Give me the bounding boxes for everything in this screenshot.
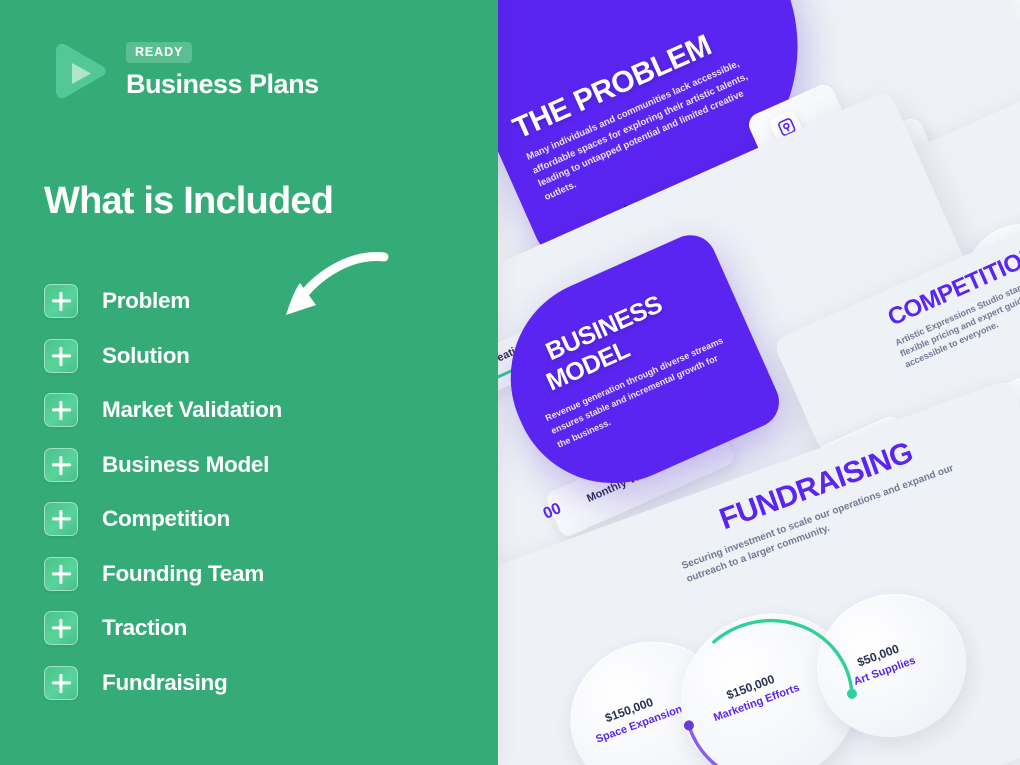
plus-icon [44,448,78,482]
brand-title: Business Plans [126,70,319,100]
feature-label: Business Model [102,452,269,478]
feature-label: Competition [102,506,230,532]
list-item[interactable]: Solution [44,337,464,375]
feature-label: Solution [102,343,190,369]
list-item[interactable]: Traction [44,609,464,647]
brand-text-block: READY Business Plans [126,38,319,100]
traction-value-monthly-visitors: 00 [541,500,565,524]
plus-icon [44,502,78,536]
left-info-panel: READY Business Plans What is Included Pr… [0,0,498,765]
included-feature-list: Problem Solution Market Validation Busin… [44,282,464,718]
play-triangle-icon [48,40,110,102]
feature-label: Fundraising [102,670,227,696]
page-title: What is Included [44,182,333,222]
logo-mark[interactable] [48,40,110,102]
feature-label: Traction [102,615,187,641]
plus-icon [44,666,78,700]
list-item[interactable]: Fundraising [44,664,464,702]
list-item[interactable]: Founding Team [44,555,464,593]
plus-icon [44,611,78,645]
feature-label: Founding Team [102,561,264,587]
plus-icon [44,284,78,318]
slide-showcase: Drop-in Fees THE PROBLEM Many individual… [498,0,1020,765]
list-item[interactable]: Problem [44,282,464,320]
plus-icon [44,339,78,373]
feature-label: Problem [102,288,190,314]
plus-icon [44,557,78,591]
feature-label: Market Validation [102,397,282,423]
plus-icon [44,393,78,427]
poster-canvas: Drop-in Fees THE PROBLEM Many individual… [0,0,1020,765]
list-item[interactable]: Business Model [44,446,464,484]
brand-block: READY Business Plans [48,38,319,102]
list-item[interactable]: Market Validation [44,391,464,429]
list-item[interactable]: Competition [44,500,464,538]
ready-badge: READY [126,42,192,63]
